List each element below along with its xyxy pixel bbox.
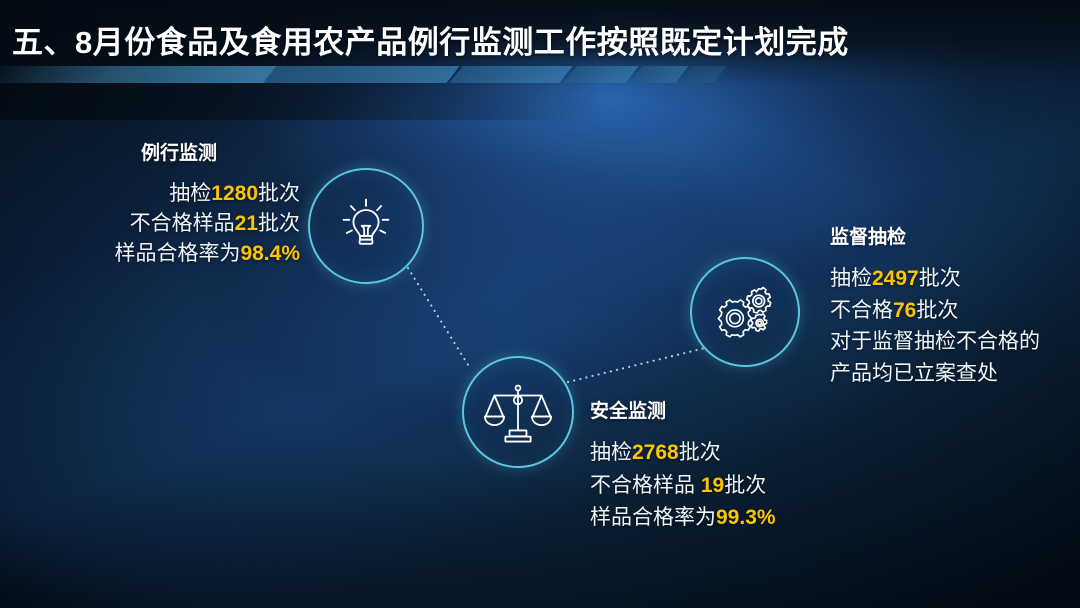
node-routine-circle[interactable] bbox=[308, 168, 424, 284]
text-pre: 不合格样品 bbox=[590, 474, 701, 497]
text-value: 76 bbox=[893, 299, 916, 322]
text-pre: 样品合格率为 bbox=[114, 242, 240, 265]
page-title: 五、8月份食品及食用农产品例行监测工作按照既定计划完成 bbox=[12, 17, 849, 62]
text-pre: 不合格样品 bbox=[130, 212, 235, 235]
text-pre: 抽检 bbox=[169, 182, 211, 205]
text-post: 批次 bbox=[724, 474, 766, 497]
scales-icon bbox=[484, 380, 552, 444]
node-supervise-circle[interactable] bbox=[690, 257, 800, 367]
text-post: 批次 bbox=[679, 441, 721, 464]
slide-canvas: 五、8月份食品及食用农产品例行监测工作按照既定计划完成 例行监测 抽检1280批… bbox=[0, 0, 1080, 608]
block-supervise: 监督抽检 抽检2497批次 不合格76批次 对于监督抽检不合格的 产品均已立案查… bbox=[830, 222, 1074, 389]
text-post: 批次 bbox=[258, 212, 300, 235]
block-supervise-heading: 监督抽检 bbox=[830, 222, 1074, 249]
block-routine-heading: 例行监测 bbox=[52, 138, 300, 165]
text-post: 批次 bbox=[916, 299, 958, 322]
text-value: 2497 bbox=[872, 267, 919, 290]
gears-icon bbox=[713, 282, 777, 342]
connector-routine-to-safety bbox=[408, 268, 470, 368]
block-safety-line-2: 不合格样品 19批次 bbox=[590, 470, 850, 503]
block-safety-line-3: 样品合格率为99.3% bbox=[590, 502, 850, 535]
block-routine-line-2: 不合格样品21批次 bbox=[52, 209, 300, 239]
connector-safety-to-supervise bbox=[568, 348, 705, 382]
block-supervise-line-2: 不合格76批次 bbox=[830, 295, 1074, 327]
block-routine-line-3: 样品合格率为98.4% bbox=[52, 239, 300, 269]
block-routine-line-1: 抽检1280批次 bbox=[52, 179, 300, 209]
text-value: 1280 bbox=[211, 182, 258, 205]
text-value: 98.4% bbox=[240, 242, 300, 265]
block-supervise-line-1: 抽检2497批次 bbox=[830, 263, 1074, 295]
text-pre: 抽检 bbox=[830, 267, 872, 290]
block-safety: 安全监测 抽检2768批次 不合格样品 19批次 样品合格率为99.3% bbox=[590, 396, 850, 535]
text-value: 19 bbox=[701, 474, 724, 497]
text-post: 批次 bbox=[919, 267, 961, 290]
block-supervise-line-4: 产品均已立案查处 bbox=[830, 358, 1074, 390]
lightbulb-icon bbox=[335, 195, 397, 257]
text-value: 99.3% bbox=[716, 506, 776, 529]
node-safety-circle[interactable] bbox=[462, 356, 574, 468]
text-value: 2768 bbox=[632, 441, 679, 464]
text-value: 21 bbox=[235, 212, 258, 235]
text-pre: 样品合格率为 bbox=[590, 506, 716, 529]
text-pre: 抽检 bbox=[590, 441, 632, 464]
block-safety-heading: 安全监测 bbox=[590, 396, 850, 423]
text-post: 批次 bbox=[258, 182, 300, 205]
block-routine: 例行监测 抽检1280批次 不合格样品21批次 样品合格率为98.4% bbox=[52, 138, 300, 268]
block-safety-line-1: 抽检2768批次 bbox=[590, 437, 850, 470]
block-supervise-line-3: 对于监督抽检不合格的 bbox=[830, 326, 1074, 358]
text-pre: 不合格 bbox=[830, 299, 893, 322]
